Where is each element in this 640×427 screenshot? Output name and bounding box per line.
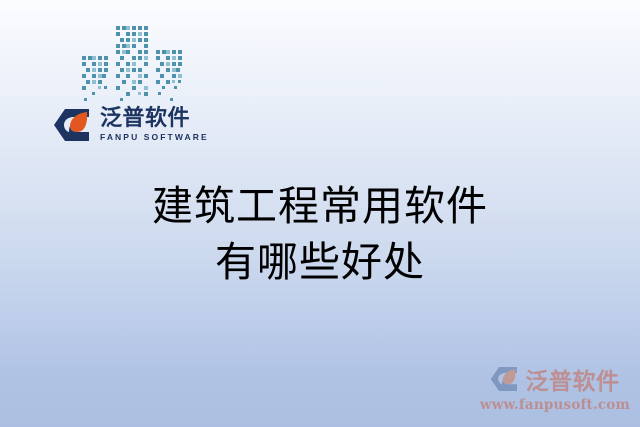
brand-name-en: FANPU SOFTWARE (100, 133, 209, 142)
page-title-line-1: 建筑工程常用软件 (0, 178, 640, 234)
page-title-line-2: 有哪些好处 (0, 234, 640, 290)
fanpu-emblem-icon (53, 108, 93, 142)
slide-canvas: 泛普软件 FANPU SOFTWARE 建筑工程常用软件 有哪些好处 泛普软件 … (0, 0, 640, 427)
watermark-logo-row: 泛普软件 (490, 362, 619, 396)
page-title: 建筑工程常用软件 有哪些好处 (0, 178, 640, 290)
watermark-emblem-icon (490, 366, 520, 392)
pixel-skyline-graphic (78, 24, 190, 108)
watermark: 泛普软件 www.fanpusoft.com (480, 362, 630, 413)
watermark-name-cn: 泛普软件 (525, 362, 619, 396)
brand-name-cn: 泛普软件 (100, 108, 209, 130)
watermark-url: www.fanpusoft.com (480, 397, 630, 413)
brand-logo: 泛普软件 FANPU SOFTWARE (53, 108, 209, 142)
